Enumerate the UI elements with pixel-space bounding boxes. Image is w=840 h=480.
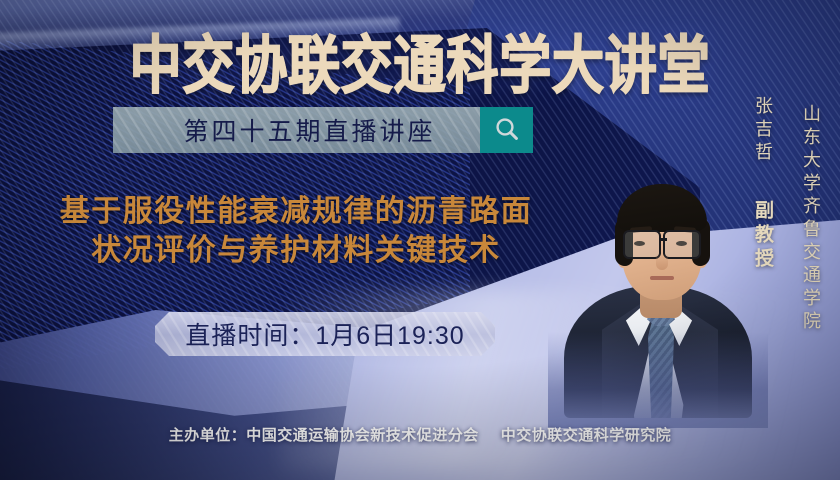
portrait-lens-right <box>663 230 701 259</box>
lecture-poster: 中交协联交通科学大讲堂 第四十五期直播讲座 基于服役性能衰减规律的沥青路面 状况… <box>0 0 840 480</box>
footer-prefix: 主办单位： <box>169 427 247 444</box>
broadcast-time-label: 直播时间：1月6日19:30 <box>185 316 464 352</box>
speaker-portrait <box>562 86 754 418</box>
episode-label: 第四十五期直播讲座 <box>113 112 480 148</box>
portrait-nose <box>656 254 668 270</box>
page-title: 中交协联交通科学大讲堂 <box>17 14 823 106</box>
lecture-topic-line-1: 基于服役性能衰减规律的沥青路面 <box>18 192 574 231</box>
broadcast-time-chip: 直播时间：1月6日19:30 <box>155 312 495 356</box>
search-icon <box>492 115 522 145</box>
lecture-topic: 基于服役性能衰减规律的沥青路面 状况评价与养护材料关键技术 <box>18 192 574 270</box>
speaker-title: 副教授 <box>749 200 776 272</box>
speaker-name: 张吉哲 <box>750 96 776 165</box>
search-button[interactable] <box>480 107 533 153</box>
footer-organizer-2: 中交协联交通科学研究院 <box>501 427 672 444</box>
portrait-mouth <box>650 276 674 280</box>
portrait-hair <box>617 184 707 232</box>
footer-organizers: 主办单位：中国交通运输协会新技术促进分会中交协联交通科学研究院 <box>0 424 840 445</box>
portrait-glasses <box>620 230 704 256</box>
episode-banner: 第四十五期直播讲座 <box>113 107 533 153</box>
footer-organizer-1: 中国交通运输协会新技术促进分会 <box>246 427 479 444</box>
lecture-topic-line-2: 状况评价与养护材料关键技术 <box>18 231 574 270</box>
speaker-affiliation: 山东大学齐鲁交通学院 <box>798 104 824 334</box>
portrait-glasses-bridge <box>659 238 667 241</box>
portrait-necktie <box>648 314 674 418</box>
